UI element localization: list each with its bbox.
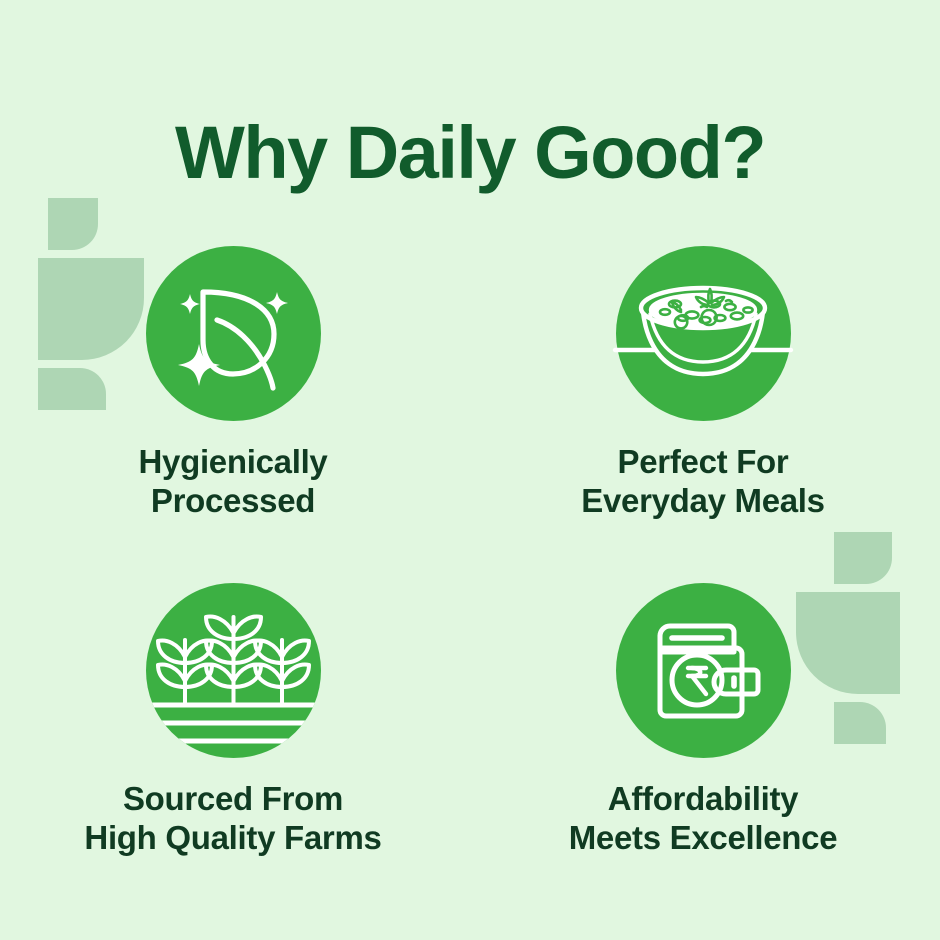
feature-icon-badge — [616, 583, 791, 758]
feature-label: Perfect For Everyday Meals — [581, 443, 824, 521]
feature-hygienically-processed: Hygienically Processed — [0, 246, 468, 521]
leaf-sparkle-icon — [173, 274, 293, 394]
feature-grid: Hygienically Processed — [0, 246, 940, 858]
feature-label: Affordability Meets Excellence — [569, 780, 838, 858]
feature-icon-badge — [146, 246, 321, 421]
feature-label: Sourced From High Quality Farms — [84, 780, 381, 858]
feature-perfect-for-everyday-meals: Perfect For Everyday Meals — [468, 246, 938, 521]
soup-bowl-icon — [613, 274, 793, 394]
crop-field-icon — [146, 583, 321, 758]
page-title: Why Daily Good? — [0, 116, 940, 190]
why-daily-good-poster: Why Daily Good? — [0, 0, 940, 940]
feature-sourced-from-high-quality-farms: Sourced From High Quality Farms — [0, 583, 468, 858]
feature-icon-badge — [146, 583, 321, 758]
feature-label: Hygienically Processed — [139, 443, 328, 521]
feature-affordability-meets-excellence: Affordability Meets Excellence — [468, 583, 938, 858]
wallet-rupee-icon — [644, 614, 762, 726]
feature-icon-badge — [616, 246, 791, 421]
